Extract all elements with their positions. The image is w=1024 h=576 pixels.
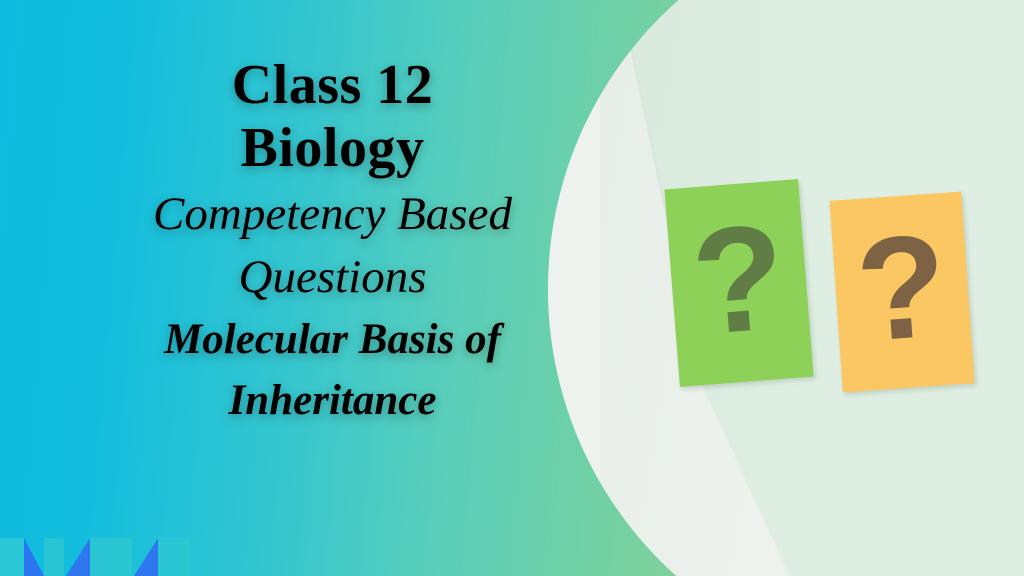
question-mark-icon: ?	[852, 212, 951, 364]
sticky-note-orange: ?	[829, 192, 974, 393]
subtitle-line-1: Competency Based	[40, 187, 625, 242]
thumbnail-canvas: ? ? Class 12 Biology Competency B	[0, 0, 1024, 576]
title-text-block: Class 12 Biology Competency Based Questi…	[40, 54, 625, 426]
chevron-shape	[66, 538, 132, 576]
chevron-shape	[0, 538, 64, 576]
subtitle-line-2: Questions	[40, 250, 625, 305]
page-title-line-2: Biology	[40, 117, 625, 180]
chapter-title-line-2: Inheritance	[40, 376, 625, 426]
question-mark-icon: ?	[687, 201, 790, 358]
page-title-line-1: Class 12	[40, 54, 625, 117]
decorative-chevrons	[0, 516, 190, 576]
chapter-title-line-1: Molecular Basis of	[40, 315, 625, 365]
chevron-shape	[134, 538, 190, 576]
sticky-note-green: ?	[664, 179, 813, 387]
